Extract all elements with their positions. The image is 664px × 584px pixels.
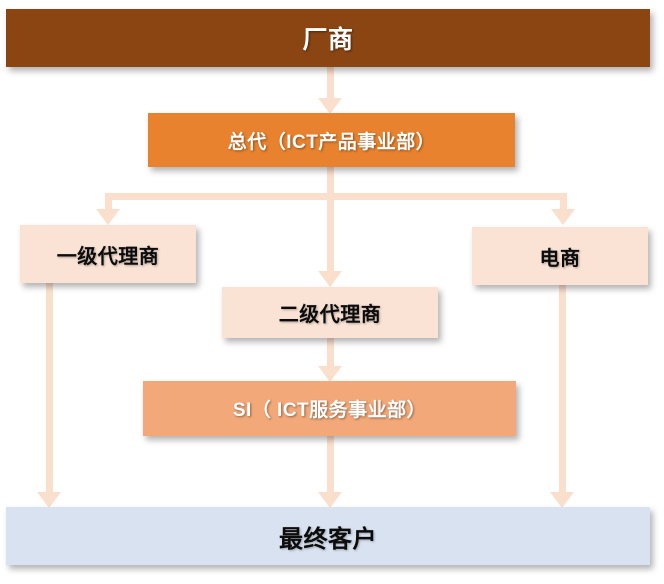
edge-vendor-to-master-line [327, 67, 334, 100]
node-master-agent[interactable]: 总代（ICT产品事业部） [148, 113, 515, 167]
edge-master-to-tier2-line [327, 193, 334, 273]
node-tier1-agent-label: 一级代理商 [57, 240, 160, 269]
node-vendor[interactable]: 厂商 [6, 9, 650, 67]
edge-vendor-to-master-arrowhead [318, 98, 342, 114]
edge-si-to-customer-line [327, 436, 334, 494]
node-vendor-label: 厂商 [302, 20, 353, 56]
edge-master-to-ecommerce-arrowhead [551, 209, 575, 225]
edge-ecommerce-to-customer-arrowhead [550, 492, 574, 508]
edge-master-to-tier1-arrowhead [96, 209, 120, 225]
node-tier2-agent[interactable]: 二级代理商 [222, 287, 438, 338]
edge-ecommerce-to-customer-line [559, 285, 566, 494]
edge-master-to-tier2-arrowhead [318, 271, 342, 287]
flowchart-canvas: 厂商 总代（ICT产品事业部） 一级代理商 二级代理商 电商 SI（ ICT服务… [0, 0, 664, 584]
edge-master-horizontal-bus [105, 193, 567, 200]
edge-tier2-to-si-arrowhead [318, 366, 342, 382]
node-ecommerce[interactable]: 电商 [472, 227, 648, 285]
node-end-customer[interactable]: 最终客户 [6, 507, 650, 565]
node-tier2-agent-label: 二级代理商 [279, 298, 382, 327]
node-si-label: SI（ ICT服务事业部） [233, 395, 426, 422]
edge-tier1-to-customer-line [46, 283, 53, 494]
node-tier1-agent[interactable]: 一级代理商 [20, 225, 196, 283]
edge-tier2-to-si-line [327, 338, 334, 368]
node-master-agent-label: 总代（ICT产品事业部） [228, 127, 436, 154]
node-si[interactable]: SI（ ICT服务事业部） [143, 381, 516, 436]
node-end-customer-label: 最终客户 [279, 519, 377, 554]
edge-tier1-to-customer-arrowhead [37, 492, 61, 508]
node-ecommerce-label: 电商 [540, 242, 581, 271]
edge-si-to-customer-arrowhead [318, 492, 342, 508]
